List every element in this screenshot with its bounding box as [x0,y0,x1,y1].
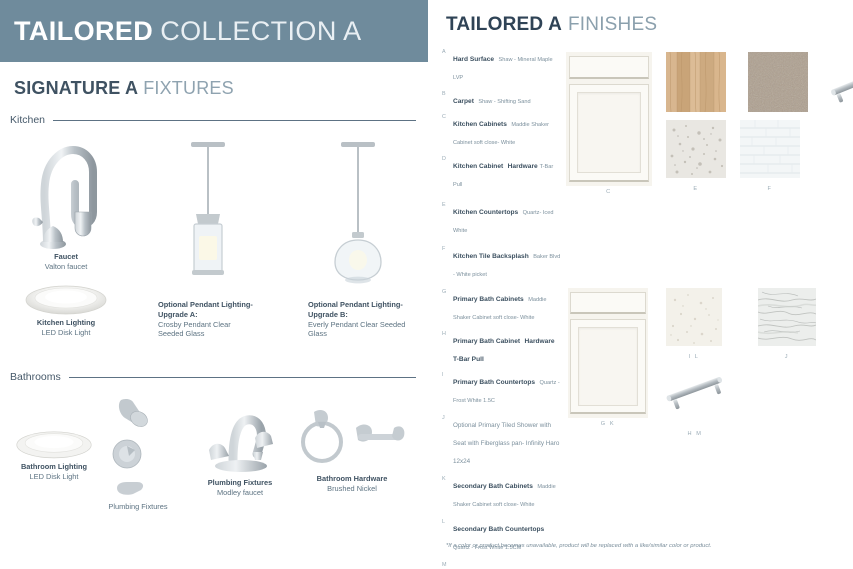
swatch-kitchen-cabinet: C [566,52,652,195]
fixture-bathroom-lighting: Bathroom Lighting LED Disk Light [8,424,100,482]
faucet-detail: Valton faucet [14,262,118,272]
faucet-name: Faucet [14,252,118,262]
shower-trim-set-icon [103,392,173,504]
finishes-heading-bold: TAILORED A [446,14,562,36]
disk-light-icon [23,278,109,318]
swatch-kitchen-countertop: E [666,120,726,192]
legend-key: D [442,155,453,191]
fixture-pendant-upgrade-a: Optional Pendant Lighting- Upgrade A: Cr… [158,140,258,339]
finishes-legend-top: A Hard Surface Shaw - Mineral Maple LVP … [442,48,562,286]
kitchen-divider-label: Kitchen [10,114,53,126]
legend-key: H [442,330,453,366]
legend-item: J Optional Primary Tiled Shower with Sea… [442,414,562,468]
legend-key: E [442,201,453,237]
kitchen-lighting-detail: LED Disk Light [14,328,118,338]
legend-key: M [442,561,453,569]
legend-title: Carpet [453,98,474,105]
pendant-schoolhouse-icon [329,140,387,300]
swatch-key: G K [568,421,648,427]
cabinet-door-image [566,52,652,186]
legend-title: Primary Bath Countertops [453,379,535,386]
fixture-faucet: Faucet Valton faucet [14,140,118,272]
pendant-b-caption: Optional Pendant Lighting- Upgrade B: Ev… [308,300,408,339]
fixture-kitchen-lighting: Kitchen Lighting LED Disk Light [14,278,118,338]
mineral-maple-lvp-image [666,52,726,112]
pendant-cylinder-icon [179,140,237,300]
kitchen-lighting-caption: Kitchen Lighting LED Disk Light [14,318,118,338]
divider-rule [53,120,416,121]
fixture-plumbing-shower-set: Plumbing Fixtures [92,392,184,504]
legend-item: B Carpet Shaw - Shifting Sand [442,90,562,108]
collection-title-light: COLLECTION A [153,16,361,47]
bathroom-hardware-name: Bathroom Hardware [296,474,408,484]
swatch-hard-surface: A [666,52,726,126]
legend-title: Primary Bath Cabinet [453,338,520,345]
legend-title: Secondary Bath Cabinets [453,483,533,490]
legend-key: C [442,113,453,149]
shifting-sand-carpet-image [748,52,808,112]
legend-item: A Hard Surface Shaw - Mineral Maple LVP [442,48,562,84]
legend-item: K Secondary Bath Cabinets Maddie Shaker … [442,475,562,511]
pendant-b-detail: Everly Pendant Clear Seeded Glass [308,320,408,340]
plumbing-fixtures-name: Plumbing Fixtures [84,502,192,512]
swatch-key: F [740,186,800,192]
swatch-shower-tile: J [758,288,816,360]
swatch-key: C [566,189,652,195]
legend-title: Kitchen Cabinet [453,163,503,170]
disk-light-icon [14,424,94,462]
legend-item: I Primary Bath Countertops Quartz - Fros… [442,371,562,407]
legend-title: Kitchen Tile Backsplash [453,253,529,260]
swatch-kitchen-backsplash: F [740,120,800,192]
bath-cabinet-door-image [568,288,648,418]
plumbing-fixtures-caption: Plumbing Fixtures [84,502,192,512]
swatch-key: J [758,354,816,360]
faucet-caption: Faucet Valton faucet [14,252,118,272]
finishes-heading: TAILORED A FINISHES [446,14,657,36]
t-bar-pull-image [660,368,730,414]
legend-item: M Secondary Bath Cabinet Hardware- T-bar… [442,561,562,569]
legend-key: A [442,48,453,84]
kitchen-lighting-name: Kitchen Lighting [14,318,118,328]
cabinet-drawer-face [570,292,645,314]
lav-faucet-name: Plumbing Fixtures [192,478,288,488]
legend-title-2-text: Hardware [508,163,538,170]
kitchen-faucet-icon [29,140,103,252]
legend-key: B [442,90,453,108]
legend-key: J [442,414,453,468]
legend-key: F [442,245,453,281]
legend-key: K [442,475,453,511]
pendant-a-caption: Optional Pendant Lighting- Upgrade A: Cr… [158,300,258,339]
disclaimer-footnote: *If a color or product becomes unavailab… [446,543,712,549]
bathroom-lighting-caption: Bathroom Lighting LED Disk Light [8,462,100,482]
signature-heading-bold: SIGNATURE A [14,78,138,99]
right-column: TAILORED A FINISHES A Hard Surface Shaw … [428,0,853,569]
cabinet-drawer-face [569,56,650,79]
bathroom-lighting-detail: LED Disk Light [8,472,100,482]
fixture-pendant-upgrade-b: Optional Pendant Lighting- Upgrade B: Ev… [308,140,408,339]
iced-white-quartz-image [666,120,726,178]
legend-key: G [442,288,453,324]
legend-desc: Shaw - Shifting Sand [478,99,530,105]
towel-ring-bar-icon [296,398,408,474]
divider-rule [69,377,416,378]
infinity-haro-tile-image [758,288,816,346]
legend-item: G Primary Bath Cabinets Maddie Shaker Ca… [442,288,562,324]
collection-title-band: TAILORED COLLECTION A [0,0,428,62]
swatch-bath-hardware: H M [660,368,730,437]
swatch-kitchen-hardware: D [824,58,853,129]
finishes-legend-bottom: G Primary Bath Cabinets Maddie Shaker Ca… [442,288,562,569]
swatch-carpet: B [748,52,808,126]
bathroom-hardware-detail: Brushed Nickel [296,484,408,494]
pendant-b-name: Optional Pendant Lighting- Upgrade B: [308,300,408,320]
frost-white-quartz-image [666,288,722,346]
kitchen-section-divider: Kitchen [10,114,416,126]
lav-faucet-icon [197,398,283,478]
legend-item: F Kitchen Tile Backsplash Baker Blvd - W… [442,245,562,281]
legend-title: Optional Primary Tiled Shower with Seat … [453,422,559,465]
signature-fixtures-heading: SIGNATURE A FIXTURES [14,78,234,99]
lav-faucet-detail: Modley faucet [217,488,263,497]
legend-item: H Primary Bath Cabinet Hardware T-Bar Pu… [442,330,562,366]
swatch-key: H M [660,431,730,437]
legend-item: E Kitchen Countertops Quartz- Iced White [442,201,562,237]
bathrooms-divider-label: Bathrooms [10,371,69,383]
spec-sheet-page: TAILORED COLLECTION A SIGNATURE A FIXTUR… [0,0,853,569]
lav-faucet-caption: Plumbing Fixtures Modley faucet [192,478,288,498]
legend-title: Primary Bath Cabinets [453,296,524,303]
swatch-key: D [824,123,853,129]
legend-item: C Kitchen Cabinets Maddie Shaker Cabinet… [442,113,562,149]
swatch-key: I L [666,354,722,360]
fixture-lav-faucet: Plumbing Fixtures Modley faucet [192,398,288,498]
t-bar-pull-image [824,58,853,110]
fixture-bathroom-hardware: Bathroom Hardware Brushed Nickel [296,398,408,494]
swatch-bath-countertop: I L [666,288,722,360]
swatch-key: E [666,186,726,192]
pendant-a-name: Optional Pendant Lighting- Upgrade A: [158,300,258,320]
white-picket-tile-image [740,120,800,178]
legend-title: Secondary Bath Countertops [453,526,544,533]
legend-title: Kitchen Countertops [453,209,518,216]
pendant-a-detail: Crosby Pendant Clear Seeded Glass [158,320,258,340]
swatch-bath-cabinet: G K [568,288,648,427]
finishes-heading-light: FINISHES [562,14,657,36]
bathrooms-section-divider: Bathrooms [10,371,416,383]
legend-item: D Kitchen Cabinet Hardware T-Bar Pull [442,155,562,191]
legend-title: Hard Surface [453,56,494,63]
signature-heading-light: FIXTURES [138,78,234,99]
legend-key: I [442,371,453,407]
bathroom-lighting-name: Bathroom Lighting [8,462,100,472]
bathroom-hardware-caption: Bathroom Hardware Brushed Nickel [296,474,408,494]
cabinet-door-panel [570,319,645,414]
legend-title: Kitchen Cabinets [453,121,507,128]
collection-title-bold: TAILORED [0,16,153,47]
left-column: TAILORED COLLECTION A SIGNATURE A FIXTUR… [0,0,428,569]
cabinet-door-panel [569,84,650,182]
